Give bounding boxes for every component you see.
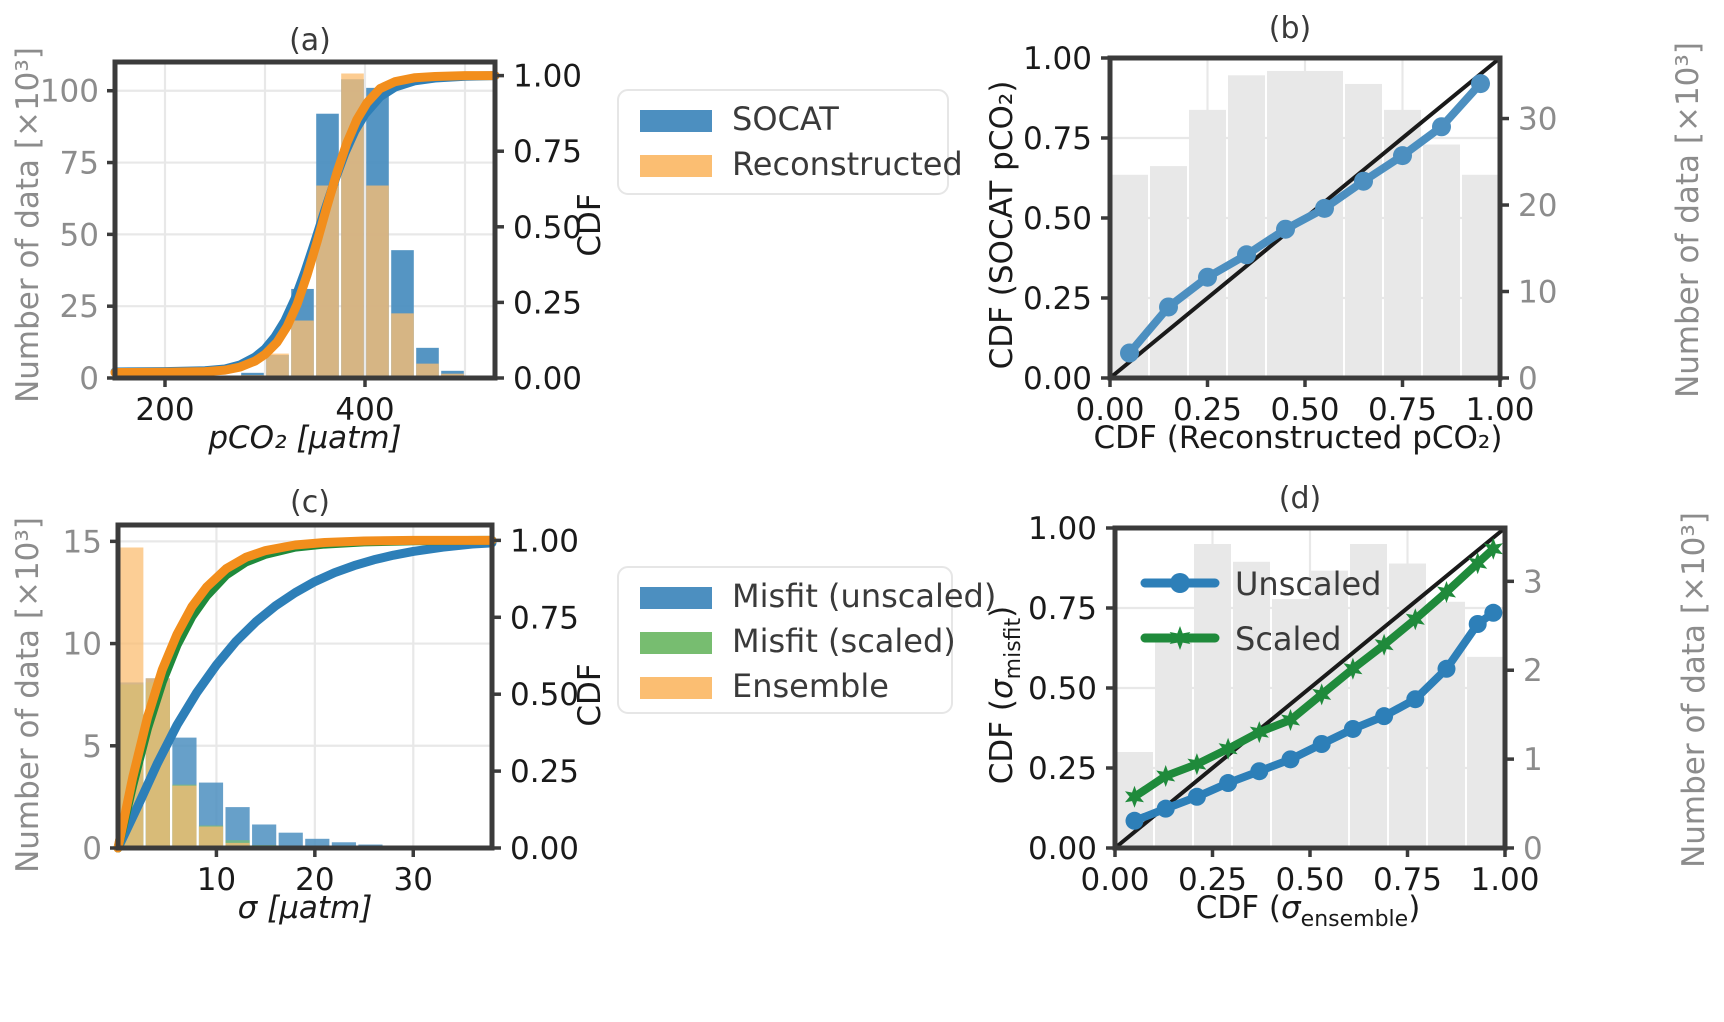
panel-b-ytick-right: 30 — [1518, 102, 1557, 138]
panel-b-hist-bar — [1228, 75, 1265, 378]
panel-c-ytick-right: 1.00 — [510, 523, 579, 559]
panel-d-ytick-left: 0.50 — [1028, 671, 1097, 707]
panel-b-data-point — [1315, 199, 1334, 218]
panel-d-svg: (d) 0.000.250.500.751.0001230.000.250.50… — [960, 470, 1724, 930]
panel-d-circle-marker — [1282, 750, 1300, 768]
panel-a-ytick-left: 100 — [40, 74, 99, 110]
panel-b-ytick-right: 20 — [1518, 188, 1557, 224]
panel-d-ytick-left: 0.25 — [1028, 751, 1097, 787]
panel-c: (c) 0510150.000.250.500.751.00102030 Num… — [0, 470, 620, 930]
panel-b-ytick-left: 0.50 — [1023, 201, 1092, 237]
panel-d: (d) 0.000.250.500.751.0001230.000.250.50… — [960, 470, 1724, 930]
legend-c-label-misfit-scaled: Misfit (scaled) — [732, 622, 956, 660]
legend-d-label-unscaled: Unscaled — [1235, 565, 1381, 603]
panel-b-hist-bar — [1462, 175, 1499, 378]
panel-b-data-point — [1432, 117, 1451, 136]
panel-b-ytick-left: 0.75 — [1023, 121, 1092, 157]
panel-b-ylabel-left: CDF (SOCAT pCO₂) — [984, 81, 1020, 370]
panel-b-hist-bar — [1150, 166, 1187, 378]
figure-root: (a) 02550751000.000.250.500.751.00200400… — [0, 0, 1724, 1022]
panel-a-xlabel: pCO₂ [µatm] — [207, 420, 401, 456]
legend-a-swatch-reconstructed — [640, 155, 712, 177]
panel-b-title: (b) — [1269, 11, 1311, 46]
panel-b-data-point — [1393, 146, 1412, 165]
panel-c-ylabel-left: Number of data [×10³] — [10, 517, 46, 873]
panel-a-bar — [291, 321, 314, 378]
legend-a-svg: SOCAT Reconstructed — [616, 88, 956, 198]
panel-d-circle-marker — [1469, 615, 1487, 633]
panel-d-ytick-left: 0.75 — [1028, 591, 1097, 627]
panel-a-bar — [366, 186, 389, 378]
panel-a-ytick-left: 25 — [60, 289, 99, 325]
panel-a-svg: (a) 02550751000.000.250.500.751.00200400… — [0, 0, 620, 460]
panel-c-xlabel: σ [µatm] — [238, 890, 373, 926]
panel-c-svg: (c) 0510150.000.250.500.751.00102030 Num… — [0, 470, 620, 930]
panel-d-ytick-left: 1.00 — [1028, 511, 1097, 547]
panel-d-ytick-right: 1 — [1523, 742, 1543, 778]
panel-b-hist-bar — [1306, 71, 1343, 378]
panel-d-ytick-right: 2 — [1523, 653, 1543, 689]
panel-c-title: (c) — [290, 485, 330, 520]
panel-d-circle-marker — [1188, 788, 1206, 806]
panel-c-xtick: 30 — [394, 862, 433, 898]
panel-a-ylabel-right: CDF — [572, 193, 608, 256]
panel-c-bar — [199, 827, 223, 848]
legend-c-label-misfit-unscaled: Misfit (unscaled) — [732, 577, 996, 615]
panel-b-data-point — [1159, 297, 1178, 316]
panel-d-circle-marker — [1126, 812, 1144, 830]
panel-d-hist-bar — [1311, 571, 1348, 848]
panel-b-data-point — [1471, 74, 1490, 93]
panel-c-ytick-right: 0.50 — [510, 677, 579, 713]
legend-c-label-ensemble: Ensemble — [732, 667, 889, 705]
legend-panel-a: SOCAT Reconstructed — [616, 88, 956, 198]
panel-c-bar — [172, 786, 196, 848]
panel-d-hist-bar — [1428, 602, 1465, 848]
legend-c-swatch-misfit-unscaled — [640, 587, 712, 609]
panel-b-data-point — [1237, 245, 1256, 264]
panel-b-data-point — [1198, 268, 1217, 287]
panel-b-ylabel-right: Number of data [×10³] — [1670, 42, 1706, 398]
panel-c-ytick-left: 0 — [82, 831, 102, 867]
panel-d-circle-marker — [1157, 800, 1175, 818]
panel-c-xtick: 10 — [197, 862, 236, 898]
legend-c-svg: Misfit (unscaled) Misfit (scaled) Ensemb… — [616, 565, 956, 715]
panel-c-ylabel-right: CDF — [572, 663, 608, 726]
panel-a-ytick-right: 0.75 — [513, 134, 582, 170]
panel-a: (a) 02550751000.000.250.500.751.00200400… — [0, 0, 620, 460]
panel-d-title: (d) — [1279, 481, 1321, 516]
panel-c-ytick-left: 10 — [63, 627, 102, 663]
panel-d-xtick: 0.00 — [1080, 862, 1149, 898]
panel-a-bar — [266, 354, 289, 378]
panel-d-hist-bar — [1233, 562, 1270, 848]
panel-b-hist-bar — [1345, 84, 1382, 378]
panel-a-ytick-left: 75 — [60, 146, 99, 182]
panel-d-circle-marker — [1375, 707, 1393, 725]
panel-b-ytick-right: 10 — [1518, 275, 1557, 311]
panel-a-bar — [391, 313, 414, 378]
legend-c-swatch-ensemble — [640, 677, 712, 699]
panel-b-ytick-left: 0.25 — [1023, 281, 1092, 317]
panel-d-circle-marker — [1313, 735, 1331, 753]
panel-b-data-point — [1120, 344, 1139, 363]
panel-d-circle-marker — [1438, 660, 1456, 678]
panel-b-svg: (b) 0.000.250.500.751.0001020300.000.250… — [960, 0, 1724, 460]
panel-d-ylabel-left: CDF (σmisfit) — [984, 606, 1026, 785]
panel-d-circle-marker — [1219, 774, 1237, 792]
panel-d-circle-marker — [1250, 762, 1268, 780]
panel-b-xlabel: CDF (Reconstructed pCO₂) — [1094, 420, 1503, 456]
legend-a-label-reconstructed: Reconstructed — [732, 145, 963, 183]
legend-d-label-scaled: Scaled — [1235, 620, 1341, 658]
panel-a-title: (a) — [289, 23, 331, 58]
panel-c-ytick-right: 0.00 — [510, 831, 579, 867]
panel-a-ytick-right: 1.00 — [513, 59, 582, 95]
panel-b-ytick-left: 1.00 — [1023, 41, 1092, 77]
panel-d-xtick: 1.00 — [1470, 862, 1539, 898]
panel-a-ytick-left: 0 — [79, 361, 99, 397]
legend-c-swatch-misfit-scaled — [640, 632, 712, 654]
panel-a-xtick: 200 — [135, 392, 194, 428]
panel-b-data-point — [1354, 172, 1373, 191]
panel-d-hist-bar — [1467, 657, 1504, 848]
legend-a-label-socat: SOCAT — [732, 100, 839, 138]
panel-c-ytick-right: 0.25 — [510, 754, 579, 790]
panel-a-ytick-right: 0.25 — [513, 285, 582, 321]
panel-a-ytick-left: 50 — [60, 217, 99, 253]
legend-panel-c: Misfit (unscaled) Misfit (scaled) Ensemb… — [616, 565, 956, 715]
panel-c-ytick-left: 15 — [63, 524, 102, 560]
panel-c-ytick-right: 0.75 — [510, 600, 579, 636]
panel-b-data-point — [1276, 220, 1295, 239]
panel-a-ylabel-left: Number of data [×10³] — [10, 47, 46, 403]
panel-d-circle-marker — [1484, 604, 1502, 622]
panel-c-bar — [252, 824, 276, 848]
panel-d-ytick-right: 3 — [1523, 564, 1543, 600]
panel-d-ylabel-right: Number of data [×10³] — [1676, 512, 1712, 868]
panel-c-ytick-left: 5 — [82, 729, 102, 765]
panel-b: (b) 0.000.250.500.751.0001020300.000.250… — [960, 0, 1724, 460]
legend-a-swatch-socat — [640, 110, 712, 132]
panel-d-circle-marker — [1344, 720, 1362, 738]
panel-b-hist-bar — [1423, 144, 1460, 378]
panel-a-ytick-right: 0.00 — [513, 361, 582, 397]
panel-d-circle-marker — [1406, 690, 1424, 708]
legend-d-marker-unscaled — [1170, 573, 1190, 593]
